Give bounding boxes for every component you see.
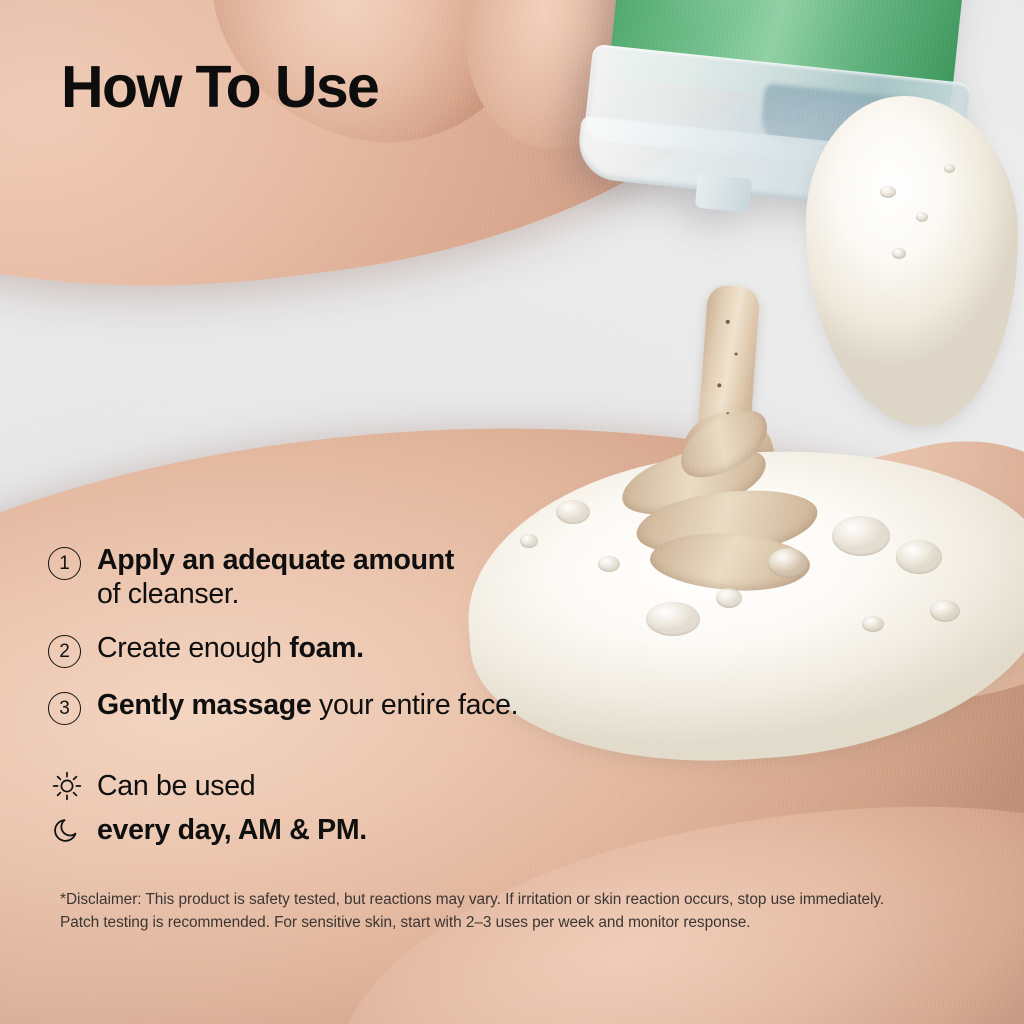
moon-icon: [50, 813, 84, 847]
step-text: Create enough foam.: [97, 631, 364, 665]
step-number-badge: 3: [48, 692, 81, 725]
usage-row-day: Can be used: [48, 764, 648, 808]
step-text-regular: your entire face.: [311, 689, 518, 721]
step-text: Gently massage your entire face.: [97, 688, 518, 722]
step-text-bold: Gently massage: [97, 689, 311, 721]
step-text: Apply an adequate amount of cleanser.: [97, 543, 454, 611]
step-text-regular: of cleanser.: [97, 578, 239, 610]
usage-frequency-block: Can be used every day, AM & PM.: [48, 764, 648, 852]
step-number-badge: 2: [48, 635, 81, 668]
usage-text-night: every day, AM & PM.: [97, 816, 367, 845]
step-item: 3 Gently massage your entire face.: [48, 688, 648, 725]
page-title: How To Use: [61, 58, 378, 117]
step-number-badge: 1: [48, 547, 81, 580]
how-to-use-panel: How To Use 1 Apply an adequate amount of…: [0, 0, 1024, 1024]
step-item: 1 Apply an adequate amount of cleanser.: [48, 543, 648, 611]
step-text-regular: Create enough: [97, 632, 289, 664]
bottle-nozzle: [695, 174, 752, 213]
steps-list: 1 Apply an adequate amount of cleanser. …: [48, 543, 648, 737]
step-text-bold: foam.: [289, 632, 364, 664]
step-item: 2 Create enough foam.: [48, 631, 648, 668]
foam-drip: [806, 96, 1018, 426]
usage-text-day: Can be used: [97, 772, 255, 801]
sun-icon: [50, 769, 84, 803]
product-usage-photo: [0, 0, 1024, 1024]
disclaimer-text: *Disclaimer: This product is safety test…: [60, 888, 910, 935]
step-text-bold: Apply an adequate amount: [97, 544, 454, 576]
usage-row-night: every day, AM & PM.: [48, 808, 648, 852]
